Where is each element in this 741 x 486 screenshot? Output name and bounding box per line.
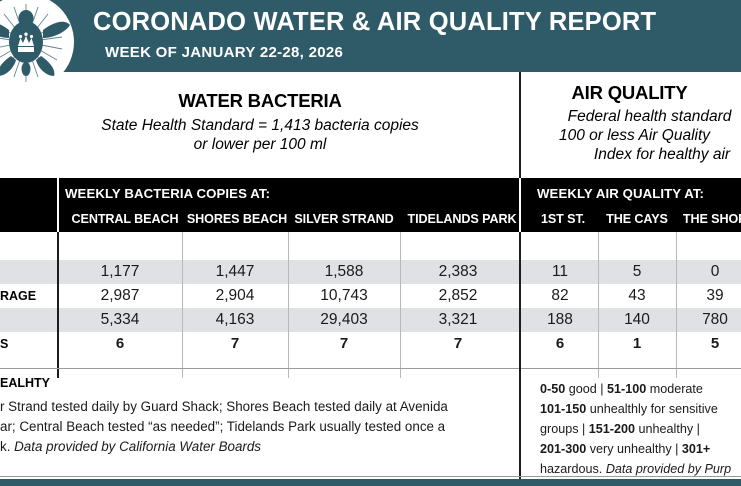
air-footnote-rule bbox=[521, 368, 741, 369]
aqi-range-301-plus: 301+ bbox=[682, 442, 710, 456]
aqi-range-151-200: 151-200 bbox=[589, 422, 635, 436]
water-cell-r1c4: 2,383 bbox=[402, 260, 514, 284]
water-col-divider-3 bbox=[400, 232, 401, 378]
aqi-label-hazardous: hazardous. bbox=[540, 462, 606, 476]
water-cell-r3c4: 3,321 bbox=[402, 308, 514, 332]
air-cell-r3c2: 140 bbox=[600, 308, 674, 332]
water-cell-r4c1: 6 bbox=[62, 332, 178, 356]
aqi-range-101-150: 101-150 bbox=[540, 402, 586, 416]
air-standard-line3: Index for healthy air bbox=[522, 145, 741, 164]
turtle-crown-logo-icon bbox=[0, 0, 74, 90]
air-col-header-the-cays: THE CAYS bbox=[598, 212, 676, 226]
aqi-legend-line4: 201-300 very unhealthy | 301+ bbox=[540, 439, 710, 459]
air-standard-line1: Federal health standard bbox=[522, 107, 741, 126]
air-section-title: AIR QUALITY bbox=[522, 82, 737, 104]
air-cell-r2c2: 43 bbox=[600, 284, 674, 308]
aqi-legend-line1: 0-50 good | 51-100 moderate bbox=[540, 379, 703, 399]
footer-band bbox=[0, 479, 741, 486]
air-standard-line2: 100 or less Air Quality bbox=[522, 126, 741, 145]
aqi-label-good: good | bbox=[565, 382, 607, 396]
air-col-header-1st-st: 1ST ST. bbox=[528, 212, 598, 226]
water-footnote-line3: k. Data provided by California Water Boa… bbox=[0, 437, 261, 458]
air-cell-r2c1: 82 bbox=[524, 284, 596, 308]
water-col-header-central-beach: CENTRAL BEACH bbox=[62, 212, 188, 226]
water-cell-r2c3: 10,743 bbox=[290, 284, 398, 308]
air-cell-r1c2: 5 bbox=[600, 260, 674, 284]
water-footnote-rule bbox=[0, 368, 519, 369]
water-col-header-tidelands-park: TIDELANDS PARK bbox=[400, 212, 524, 226]
air-cell-r2c3: 39 bbox=[678, 284, 741, 308]
water-rowlabel-divider bbox=[57, 232, 59, 378]
air-cell-r1c3: 0 bbox=[678, 260, 741, 284]
water-cell-r1c1: 1,177 bbox=[62, 260, 178, 284]
aqi-label-unhealthy: unhealthy | bbox=[635, 422, 700, 436]
water-section-heading: WATER BACTERIA State Health Standard = 1… bbox=[0, 90, 520, 154]
aqi-range-51-100: 51-100 bbox=[607, 382, 646, 396]
report-week: WEEK OF JANUARY 22-28, 2026 bbox=[105, 44, 343, 61]
water-col-header-shores-beach: SHORES BEACH bbox=[182, 212, 292, 226]
aqi-label-moderate: moderate bbox=[646, 382, 703, 396]
water-header-col-separator bbox=[57, 178, 59, 232]
air-cell-r1c1: 11 bbox=[524, 260, 596, 284]
aqi-source: Data provided by Purp bbox=[606, 462, 731, 476]
aqi-label-very-unhealthy: very unhealthy | bbox=[586, 442, 682, 456]
water-cell-r4c3: 7 bbox=[290, 332, 398, 356]
air-col-header-the-shores: THE SHOR bbox=[676, 212, 741, 226]
report-title: CORONADO WATER & AIR QUALITY REPORT bbox=[93, 8, 656, 37]
water-cell-r2c2: 2,904 bbox=[184, 284, 286, 308]
air-cell-r3c1: 188 bbox=[524, 308, 596, 332]
water-cell-r1c2: 1,447 bbox=[184, 260, 286, 284]
water-col-divider-2 bbox=[288, 232, 289, 378]
water-cell-r2c4: 2,852 bbox=[402, 284, 514, 308]
aqi-range-0-50: 0-50 bbox=[540, 382, 565, 396]
aqi-label-sensitive: unhealthly for sensitive bbox=[586, 402, 718, 416]
air-table-title: WEEKLY AIR QUALITY AT: bbox=[537, 186, 704, 201]
air-col-divider-1 bbox=[598, 232, 599, 378]
water-standard-line2: or lower per 100 ml bbox=[0, 135, 520, 154]
water-cell-r3c3: 29,403 bbox=[290, 308, 398, 332]
water-standard-line1: State Health Standard = 1,413 bacteria c… bbox=[0, 116, 520, 135]
water-cell-r1c3: 1,588 bbox=[290, 260, 398, 284]
air-cell-r4c3: 5 bbox=[678, 332, 741, 356]
water-section-title: WATER BACTERIA bbox=[0, 90, 520, 112]
water-cell-r3c1: 5,334 bbox=[62, 308, 178, 332]
aqi-range-201-300: 201-300 bbox=[540, 442, 586, 456]
water-footnote-line2: ar; Central Beach tested “as needed”; Ti… bbox=[0, 417, 445, 438]
air-cell-r4c1: 6 bbox=[524, 332, 596, 356]
aqi-label-groups: groups | bbox=[540, 422, 589, 436]
air-col-divider-2 bbox=[676, 232, 677, 378]
air-cell-r4c2: 1 bbox=[600, 332, 674, 356]
water-col-header-silver-strand: SILVER STRAND bbox=[288, 212, 400, 226]
water-footnote-source: Data provided by California Water Boards bbox=[14, 439, 261, 454]
air-section-heading: AIR QUALITY Federal health standard 100 … bbox=[522, 82, 741, 164]
aqi-legend-line2: 101-150 unhealthly for sensitive bbox=[540, 399, 718, 419]
turtle-crown-logo bbox=[0, 0, 74, 90]
report-page: CORONADO WATER & AIR QUALITY REPORT WEEK… bbox=[0, 0, 741, 486]
water-footnote-heading: EALHTY bbox=[0, 376, 50, 390]
water-row-label-average: RAGE bbox=[0, 284, 36, 308]
water-cell-r4c4: 7 bbox=[402, 332, 514, 356]
water-col-divider-1 bbox=[182, 232, 183, 378]
air-cell-r3c3: 780 bbox=[678, 308, 741, 332]
aqi-legend-line3: groups | 151-200 unhealthy | bbox=[540, 419, 700, 439]
water-footnote-line1: r Strand tested daily by Guard Shack; Sh… bbox=[0, 397, 448, 418]
water-footnote-line3-plain: k. bbox=[0, 439, 14, 454]
water-row-label-days: S bbox=[0, 332, 8, 356]
water-cell-r3c2: 4,163 bbox=[184, 308, 286, 332]
water-cell-r4c2: 7 bbox=[184, 332, 286, 356]
water-cell-r2c1: 2,987 bbox=[62, 284, 178, 308]
footer-rule bbox=[0, 476, 741, 477]
water-table-title: WEEKLY BACTERIA COPIES AT: bbox=[65, 186, 270, 201]
